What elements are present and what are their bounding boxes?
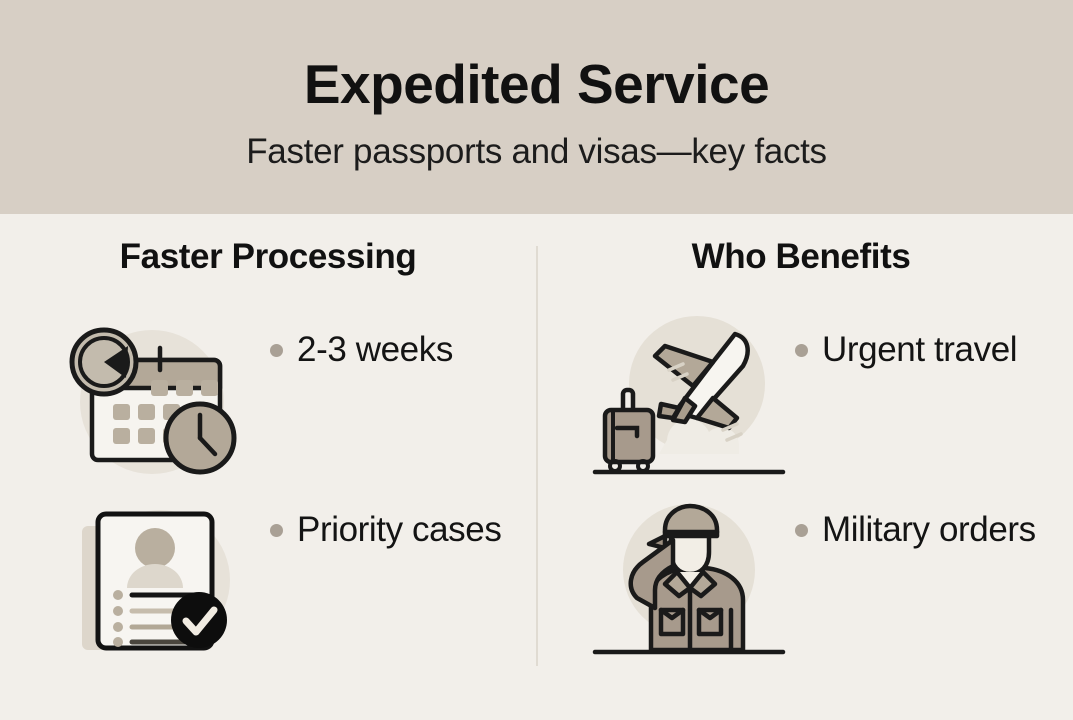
column-faster-processing: Faster Processing (18, 236, 518, 696)
bullet-dot-icon (795, 524, 808, 537)
airplane-luggage-icon (589, 312, 789, 482)
page-title: Expedited Service (0, 56, 1073, 114)
bullet-row: 2-3 weeks (270, 328, 518, 372)
infographic-root: Expedited Service Faster passports and v… (0, 0, 1073, 720)
column-heading-faster-processing: Faster Processing (18, 236, 518, 278)
list-item-label: Military orders (822, 508, 1036, 552)
header-band: Expedited Service Faster passports and v… (0, 0, 1073, 214)
id-document-check-icon (56, 492, 256, 662)
column-divider (536, 246, 538, 666)
calendar-clock-icon (56, 312, 256, 482)
bullet-row: Priority cases (270, 508, 518, 552)
list-item-label: Urgent travel (822, 328, 1017, 372)
column-who-benefits: Who Benefits (551, 236, 1051, 696)
bullet-dot-icon (270, 524, 283, 537)
list-item: 2-3 weeks (18, 312, 518, 482)
page-subtitle: Faster passports and visas—key facts (0, 132, 1073, 172)
list-item: Military orders (551, 492, 1051, 662)
list-item-label: Priority cases (297, 508, 501, 552)
column-heading-who-benefits: Who Benefits (551, 236, 1051, 278)
list-item: Urgent travel (551, 312, 1051, 482)
bullet-dot-icon (795, 344, 808, 357)
list-item-label: 2-3 weeks (297, 328, 453, 372)
bullet-dot-icon (270, 344, 283, 357)
bullet-row: Military orders (795, 508, 1043, 552)
saluting-soldier-icon (589, 492, 789, 662)
list-item: Priority cases (18, 492, 518, 662)
bullet-row: Urgent travel (795, 328, 1043, 372)
